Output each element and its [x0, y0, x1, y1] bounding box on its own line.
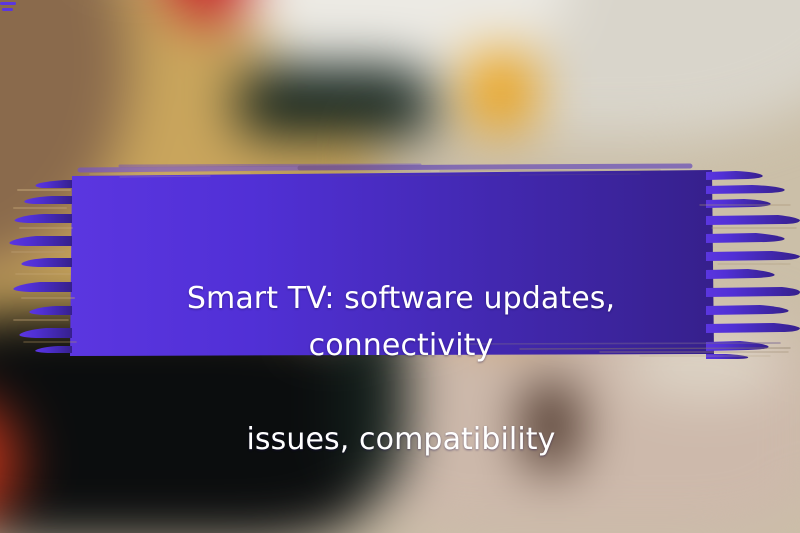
banner-title: Smart TV: software updates, connectivity…: [96, 228, 706, 510]
banner-right-tendrils: [706, 171, 800, 359]
banner-stray-fleck: [0, 2, 16, 11]
banner-title-line-1: Smart TV: software updates, connectivity: [96, 275, 706, 369]
hero-banner-image: Smart TV: software updates, connectivity…: [0, 0, 800, 533]
banner-left-tendrils: [9, 180, 72, 353]
banner-title-line-2: issues, compatibility: [96, 416, 706, 463]
